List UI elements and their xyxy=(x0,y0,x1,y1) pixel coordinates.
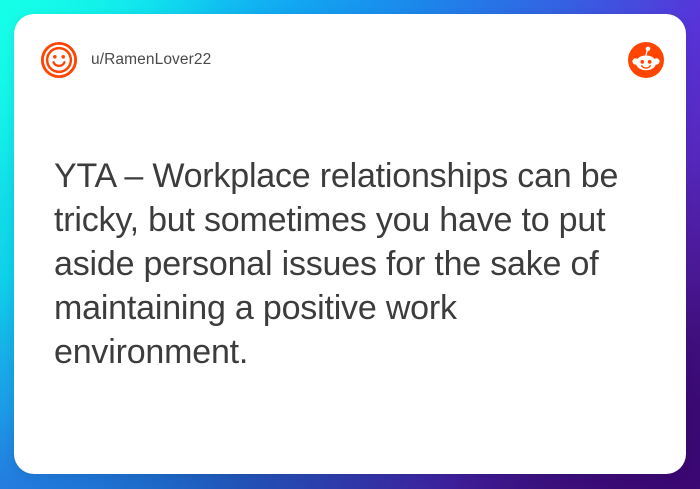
post-body: YTA – Workplace relationships can be tri… xyxy=(54,154,640,374)
post-text: YTA – Workplace relationships can be tri… xyxy=(54,154,640,374)
gradient-background: u/RamenLover22 YTA – Workplace rela xyxy=(0,0,700,489)
post-header: u/RamenLover22 xyxy=(14,14,686,106)
author-username: u/RamenLover22 xyxy=(91,51,211,69)
smiley-face-avatar-icon xyxy=(40,41,78,79)
author-block[interactable]: u/RamenLover22 xyxy=(40,41,628,79)
reddit-post-card: u/RamenLover22 YTA – Workplace rela xyxy=(14,14,686,474)
reddit-snoo-icon[interactable] xyxy=(628,42,664,78)
